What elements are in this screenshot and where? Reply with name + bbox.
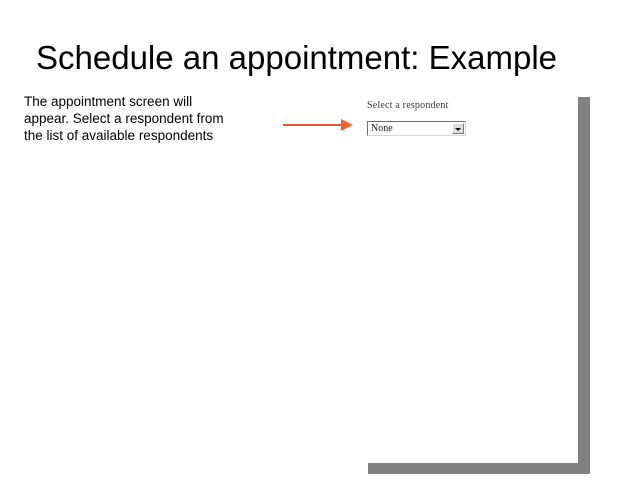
frame-shadow-bottom-edge xyxy=(368,463,590,474)
respondent-select-value: None xyxy=(371,123,393,135)
body-text-line: the list of available respondents xyxy=(24,127,256,144)
chevron-down-icon xyxy=(455,128,461,131)
body-text-line: appear. Select a respondent from xyxy=(24,110,256,127)
frame-shadow-right-edge xyxy=(578,97,590,468)
annotation-arrow-icon xyxy=(283,118,365,134)
arrow-shaft xyxy=(283,124,345,126)
respondent-select[interactable]: None xyxy=(367,121,466,136)
body-text-line: The appointment screen will xyxy=(24,93,256,110)
arrow-head xyxy=(341,119,353,131)
respondent-select-label: Select a respondent xyxy=(367,100,449,111)
respondent-select-dropdown-button[interactable] xyxy=(452,123,464,134)
body-text-block: The appointment screen will appear. Sele… xyxy=(24,93,256,144)
slide: Schedule an appointment: Example The app… xyxy=(0,0,640,480)
page-title: Schedule an appointment: Example xyxy=(36,38,616,78)
